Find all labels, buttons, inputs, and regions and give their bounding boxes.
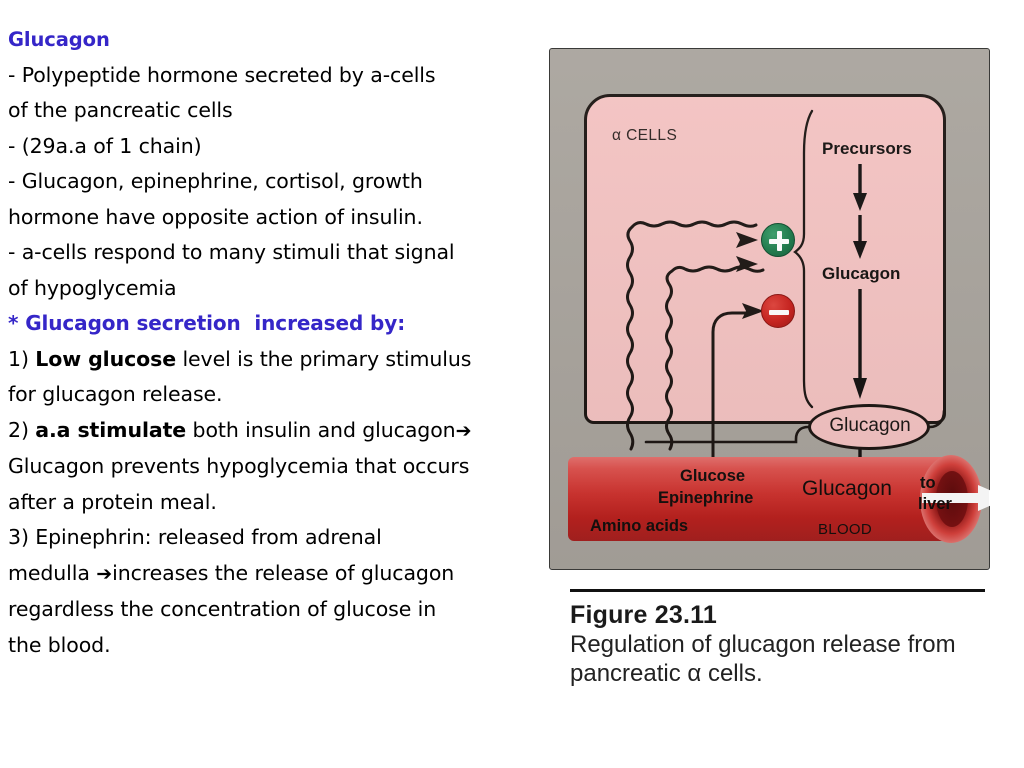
point-2-cont: Glucagon prevents hypoglycemia that occu… bbox=[8, 449, 548, 485]
bullet-line-2: of the pancreatic cells bbox=[8, 93, 548, 129]
bullet-line-3: - (29a.a of 1 chain) bbox=[8, 129, 548, 165]
stimulation-plus-badge bbox=[761, 223, 795, 257]
figure-caption: Figure 23.11 Regulation of glucagon rele… bbox=[570, 601, 1024, 688]
point-2-text: both insulin and glucagon bbox=[186, 418, 455, 442]
slide-text-column: Glucagon - Polypeptide hormone secreted … bbox=[8, 22, 548, 663]
slide-page: Glucagon - Polypeptide hormone secreted … bbox=[0, 0, 1024, 768]
figure-caption-line-2: pancreatic α cells. bbox=[570, 659, 1024, 688]
liver-label: liver bbox=[918, 495, 952, 514]
blood-label: BLOOD bbox=[818, 521, 872, 538]
alpha-cell-label: α CELLS bbox=[612, 127, 677, 145]
point-2-number: 2) bbox=[8, 418, 29, 442]
point-2-emphasis: a.a stimulate bbox=[35, 418, 186, 442]
glucose-label: Glucose bbox=[680, 467, 745, 486]
point-3-cont-3: the blood. bbox=[8, 628, 548, 664]
page-title: Glucagon bbox=[8, 22, 548, 58]
point-1-number: 1) bbox=[8, 347, 29, 371]
point-3: 3) Epinephrin: released from adrenal bbox=[8, 520, 548, 556]
point-3-cont: medulla ➔increases the release of glucag… bbox=[8, 556, 548, 593]
amino-acids-label: Amino acids bbox=[590, 517, 688, 536]
glucagon-intracellular-label: Glucagon bbox=[822, 264, 900, 284]
minus-bar bbox=[769, 310, 789, 315]
glucagon-vesicle-label: Glucagon bbox=[816, 415, 924, 437]
bullet-line-7: of hypoglycemia bbox=[8, 271, 548, 307]
point-1-text: level is the primary stimulus bbox=[176, 347, 471, 371]
bullet-line-6: - a-cells respond to many stimuli that s… bbox=[8, 235, 548, 271]
point-3-cont-2: regardless the concentration of glucose … bbox=[8, 592, 548, 628]
point-2: 2) a.a stimulate both insulin and glucag… bbox=[8, 413, 548, 450]
figure-panel-background: α CELLS bbox=[549, 48, 990, 570]
figure-image: α CELLS bbox=[549, 48, 990, 570]
plus-vertical-bar bbox=[777, 231, 782, 251]
caption-divider bbox=[570, 589, 985, 592]
point-3-cont-pre: medulla bbox=[8, 561, 96, 585]
point-1-cont: for glucagon release. bbox=[8, 377, 548, 413]
right-arrow-icon: ➔ bbox=[456, 420, 472, 442]
subheading: * Glucagon secretion increased by: bbox=[8, 306, 548, 342]
point-3-cont-post: increases the release of glucagon bbox=[112, 561, 454, 585]
figure-number: Figure 23.11 bbox=[570, 601, 1024, 630]
bullet-line-1: - Polypeptide hormone secreted by a-cell… bbox=[8, 58, 548, 94]
epinephrine-label: Epinephrine bbox=[658, 489, 753, 508]
bullet-line-5: hormone have opposite action of insulin. bbox=[8, 200, 548, 236]
to-label: to bbox=[920, 474, 936, 493]
precursors-label: Precursors bbox=[822, 139, 912, 159]
point-2-cont-2: after a protein meal. bbox=[8, 485, 548, 521]
point-1: 1) Low glucose level is the primary stim… bbox=[8, 342, 548, 378]
figure-caption-line-1: Regulation of glucagon release from bbox=[570, 630, 1024, 659]
right-arrow-icon: ➔ bbox=[96, 563, 112, 585]
inhibition-minus-badge bbox=[761, 294, 795, 328]
glucagon-in-blood-label: Glucagon bbox=[802, 477, 892, 501]
bullet-line-4: - Glucagon, epinephrine, cortisol, growt… bbox=[8, 164, 548, 200]
point-1-emphasis: Low glucose bbox=[35, 347, 176, 371]
